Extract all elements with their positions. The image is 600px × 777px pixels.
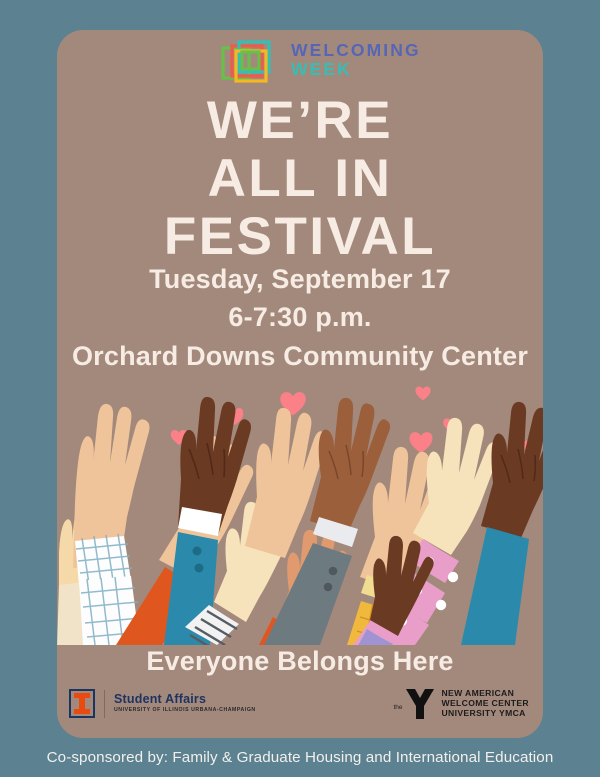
headline-line-3: FESTIVAL <box>57 208 543 266</box>
event-time: 6-7:30 p.m. <box>57 298 543 336</box>
ymca-logo: the NEW AMERICAN WELCOME CENTER UNIVERSI… <box>393 687 529 719</box>
logo-line-week: WEEK <box>291 60 421 79</box>
ymca-line-2: WELCOME CENTER <box>442 698 530 708</box>
illinois-block-i-icon <box>69 689 95 718</box>
student-affairs-title: Student Affairs <box>114 692 256 706</box>
welcoming-week-logo: WELCOMING WEEK <box>219 38 451 86</box>
tagline: Everyone Belongs Here <box>57 646 543 677</box>
poster: WELCOMING WEEK WE’RE ALL IN FESTIVAL Tue… <box>0 0 600 777</box>
ymca-y-icon <box>405 687 435 719</box>
headline-line-1: WE’RE <box>57 92 543 150</box>
welcoming-week-squares-mark <box>219 38 281 86</box>
headline-line-2: ALL IN <box>57 150 543 208</box>
cosponsor-strip: Co-sponsored by: Family & Graduate Housi… <box>0 738 600 777</box>
illinois-student-affairs-logo: Student Affairs UNIVERSITY OF ILLINOIS U… <box>69 689 256 718</box>
cosponsor-text: Co-sponsored by: Family & Graduate Housi… <box>47 749 554 766</box>
ymca-line-1: NEW AMERICAN <box>442 688 530 698</box>
poster-card: WELCOMING WEEK WE’RE ALL IN FESTIVAL Tue… <box>57 30 543 738</box>
welcoming-week-wordmark: WELCOMING WEEK <box>291 41 421 79</box>
event-location: Orchard Downs Community Center <box>57 336 543 376</box>
raised-hands-illustration <box>57 385 543 645</box>
logo-line-welcoming: WELCOMING <box>291 41 421 60</box>
event-date: Tuesday, September 17 <box>57 260 543 298</box>
university-subtitle: UNIVERSITY OF ILLINOIS URBANA-CHAMPAIGN <box>114 706 256 715</box>
page-title: WE’RE ALL IN FESTIVAL <box>57 92 543 266</box>
logo-divider <box>104 690 105 718</box>
event-details: Tuesday, September 17 6-7:30 p.m. Orchar… <box>57 260 543 376</box>
hand-2 <box>73 404 149 645</box>
footer-logos: Student Affairs UNIVERSITY OF ILLINOIS U… <box>57 685 543 737</box>
ymca-the-label: the <box>393 695 402 711</box>
ymca-logo-text: NEW AMERICAN WELCOME CENTER UNIVERSITY Y… <box>442 688 530 719</box>
illinois-logo-text: Student Affairs UNIVERSITY OF ILLINOIS U… <box>114 692 256 715</box>
ymca-line-3: UNIVERSITY YMCA <box>442 708 530 718</box>
